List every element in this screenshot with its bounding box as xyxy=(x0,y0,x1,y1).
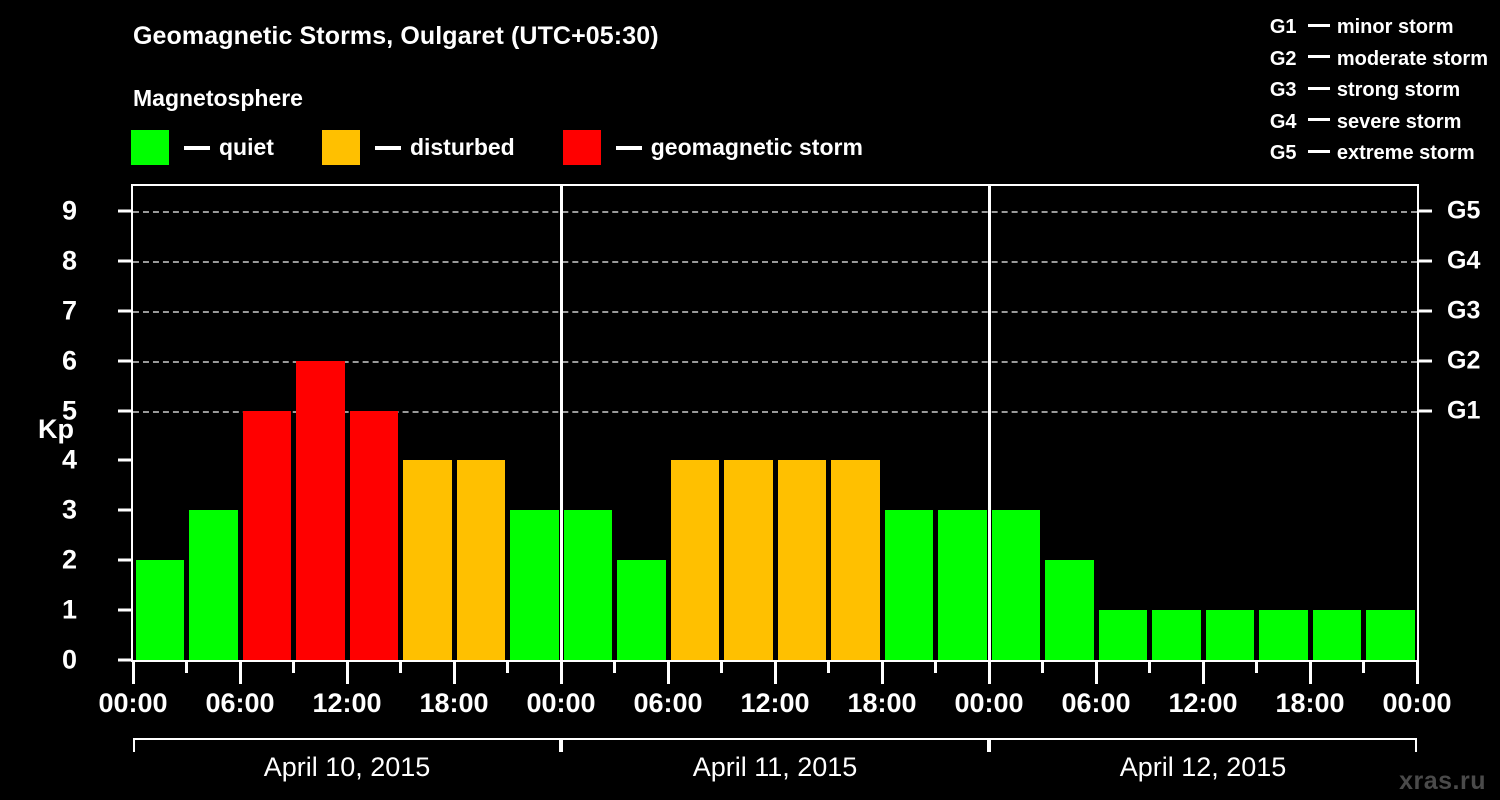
bar-disturbed-kp4 xyxy=(778,460,827,660)
watermark: xras.ru xyxy=(1399,767,1486,796)
y-tick-label-0: 0 xyxy=(37,645,77,676)
x-tick-major-22 xyxy=(1309,662,1312,684)
legend-label: disturbed xyxy=(410,134,515,161)
x-tick-label-9: 06:00 xyxy=(1061,688,1130,719)
bar-quiet-kp3 xyxy=(510,510,559,660)
y-tick-2 xyxy=(118,559,131,562)
g-tick-label-g3: G3 xyxy=(1447,296,1480,325)
legend-dash-icon xyxy=(616,146,642,150)
g-legend-row-g3: G3strong storm xyxy=(1270,75,1488,107)
bar-quiet-kp3 xyxy=(885,510,934,660)
bar-disturbed-kp4 xyxy=(671,460,720,660)
g-legend-row-g2: G2moderate storm xyxy=(1270,44,1488,76)
g-code: G1 xyxy=(1270,12,1304,44)
x-tick-major-10 xyxy=(667,662,670,684)
bar-disturbed-kp4 xyxy=(403,460,452,660)
g-tick-label-g1: G1 xyxy=(1447,396,1480,425)
bar-quiet-kp3 xyxy=(992,510,1041,660)
x-tick-major-14 xyxy=(881,662,884,684)
legend-label: quiet xyxy=(219,134,274,161)
y-tick-label-3: 3 xyxy=(37,495,77,526)
x-tick-minor-21 xyxy=(1255,662,1258,673)
day-bracket-2 xyxy=(561,738,989,752)
x-tick-major-16 xyxy=(988,662,991,684)
x-tick-major-4 xyxy=(346,662,349,684)
bar-quiet-kp3 xyxy=(938,510,987,660)
x-tick-minor-15 xyxy=(934,662,937,673)
y-tick-5 xyxy=(118,409,131,412)
chart-plot-area xyxy=(131,184,1419,662)
y-tick-6 xyxy=(118,359,131,362)
g-text: minor storm xyxy=(1337,16,1454,38)
g-dash-icon xyxy=(1308,150,1330,153)
x-tick-major-24 xyxy=(1416,662,1419,684)
y-tick-label-1: 1 xyxy=(37,595,77,626)
g-tick-label-g4: G4 xyxy=(1447,246,1480,275)
x-tick-major-20 xyxy=(1202,662,1205,684)
x-tick-minor-13 xyxy=(827,662,830,673)
bar-quiet-kp1 xyxy=(1152,610,1201,660)
bar-quiet-kp2 xyxy=(136,560,185,660)
day-bracket-1 xyxy=(133,738,561,752)
legend-swatch-quiet xyxy=(131,130,169,165)
x-tick-label-8: 00:00 xyxy=(954,688,1023,719)
x-tick-label-11: 18:00 xyxy=(1275,688,1344,719)
g-dash-icon xyxy=(1308,24,1330,27)
g-dash-icon xyxy=(1308,87,1330,90)
g-legend-row-g1: G1minor storm xyxy=(1270,12,1488,44)
legend-dash-icon xyxy=(184,146,210,150)
g-text: extreme storm xyxy=(1337,142,1475,164)
x-tick-label-2: 12:00 xyxy=(312,688,381,719)
x-tick-major-2 xyxy=(239,662,242,684)
legend-swatch-geomagnetic-storm xyxy=(563,130,601,165)
x-tick-minor-17 xyxy=(1041,662,1044,673)
bar-quiet-kp1 xyxy=(1099,610,1148,660)
bar-quiet-kp2 xyxy=(617,560,666,660)
x-tick-label-12: 00:00 xyxy=(1382,688,1451,719)
x-tick-minor-1 xyxy=(185,662,188,673)
x-tick-minor-19 xyxy=(1148,662,1151,673)
x-tick-major-0 xyxy=(132,662,135,684)
bar-quiet-kp3 xyxy=(189,510,238,660)
series-title: Magnetosphere xyxy=(133,85,303,112)
bar-storm-kp5 xyxy=(243,411,292,660)
page-title: Geomagnetic Storms, Oulgaret (UTC+05:30) xyxy=(133,22,659,51)
g-code: G4 xyxy=(1270,107,1304,139)
g-text: strong storm xyxy=(1337,79,1460,101)
legend-item-disturbed: disturbed xyxy=(322,130,515,165)
magnetosphere-legend: quietdisturbedgeomagnetic storm xyxy=(131,130,863,165)
g-tick-g4 xyxy=(1419,259,1432,262)
y-tick-7 xyxy=(118,309,131,312)
g-text: moderate storm xyxy=(1337,48,1488,70)
x-tick-minor-5 xyxy=(399,662,402,673)
g-dash-icon xyxy=(1308,118,1330,121)
y-tick-label-6: 6 xyxy=(37,345,77,376)
g-tick-g3 xyxy=(1419,309,1432,312)
gridline-kp-7 xyxy=(133,311,1417,313)
bar-quiet-kp2 xyxy=(1045,560,1094,660)
plot-inner xyxy=(133,186,1417,660)
gridline-kp-9 xyxy=(133,211,1417,213)
day-label-2: April 11, 2015 xyxy=(693,752,858,783)
x-tick-minor-3 xyxy=(292,662,295,673)
g-tick-g2 xyxy=(1419,359,1432,362)
x-tick-minor-23 xyxy=(1362,662,1365,673)
legend-swatch-disturbed xyxy=(322,130,360,165)
legend-item-quiet: quiet xyxy=(131,130,274,165)
day-label-1: April 10, 2015 xyxy=(264,752,431,783)
y-axis-title: Kp xyxy=(38,414,74,445)
bar-disturbed-kp4 xyxy=(724,460,773,660)
g-tick-label-g2: G2 xyxy=(1447,346,1480,375)
y-tick-label-2: 2 xyxy=(37,545,77,576)
g-scale-legend: G1minor stormG2moderate stormG3strong st… xyxy=(1270,12,1488,170)
day-separator xyxy=(560,186,563,660)
x-tick-label-7: 18:00 xyxy=(847,688,916,719)
g-legend-row-g5: G5extreme storm xyxy=(1270,138,1488,170)
bar-quiet-kp1 xyxy=(1313,610,1362,660)
bar-quiet-kp3 xyxy=(564,510,613,660)
g-tick-label-g5: G5 xyxy=(1447,196,1480,225)
x-tick-major-12 xyxy=(774,662,777,684)
gridline-kp-8 xyxy=(133,261,1417,263)
x-tick-label-6: 12:00 xyxy=(740,688,809,719)
y-tick-8 xyxy=(118,259,131,262)
x-tick-label-5: 06:00 xyxy=(633,688,702,719)
y-tick-0 xyxy=(118,659,131,662)
day-label-3: April 12, 2015 xyxy=(1120,752,1287,783)
g-legend-row-g4: G4severe storm xyxy=(1270,107,1488,139)
x-tick-label-1: 06:00 xyxy=(205,688,274,719)
x-tick-major-18 xyxy=(1095,662,1098,684)
legend-dash-icon xyxy=(375,146,401,150)
x-tick-minor-9 xyxy=(613,662,616,673)
bar-disturbed-kp4 xyxy=(831,460,880,660)
y-tick-9 xyxy=(118,209,131,212)
x-tick-label-4: 00:00 xyxy=(526,688,595,719)
y-tick-label-7: 7 xyxy=(37,295,77,326)
day-bracket-3 xyxy=(989,738,1417,752)
g-text: severe storm xyxy=(1337,111,1462,133)
y-tick-1 xyxy=(118,609,131,612)
y-tick-3 xyxy=(118,509,131,512)
bar-quiet-kp1 xyxy=(1259,610,1308,660)
bar-disturbed-kp4 xyxy=(457,460,506,660)
y-tick-label-8: 8 xyxy=(37,245,77,276)
bar-storm-kp6 xyxy=(296,361,345,660)
g-code: G5 xyxy=(1270,138,1304,170)
bar-quiet-kp1 xyxy=(1366,610,1415,660)
bar-quiet-kp1 xyxy=(1206,610,1255,660)
g-code: G2 xyxy=(1270,44,1304,76)
x-tick-label-0: 00:00 xyxy=(98,688,167,719)
y-tick-4 xyxy=(118,459,131,462)
x-tick-label-3: 18:00 xyxy=(419,688,488,719)
x-tick-major-6 xyxy=(453,662,456,684)
g-code: G3 xyxy=(1270,75,1304,107)
y-tick-label-4: 4 xyxy=(37,445,77,476)
day-separator xyxy=(988,186,991,660)
legend-item-geomagnetic-storm: geomagnetic storm xyxy=(563,130,863,165)
x-tick-minor-11 xyxy=(720,662,723,673)
x-tick-minor-7 xyxy=(506,662,509,673)
bar-storm-kp5 xyxy=(350,411,399,660)
g-dash-icon xyxy=(1308,55,1330,58)
g-tick-g5 xyxy=(1419,209,1432,212)
legend-label: geomagnetic storm xyxy=(651,134,863,161)
y-tick-label-9: 9 xyxy=(37,195,77,226)
g-tick-g1 xyxy=(1419,409,1432,412)
x-tick-major-8 xyxy=(560,662,563,684)
x-tick-label-10: 12:00 xyxy=(1168,688,1237,719)
